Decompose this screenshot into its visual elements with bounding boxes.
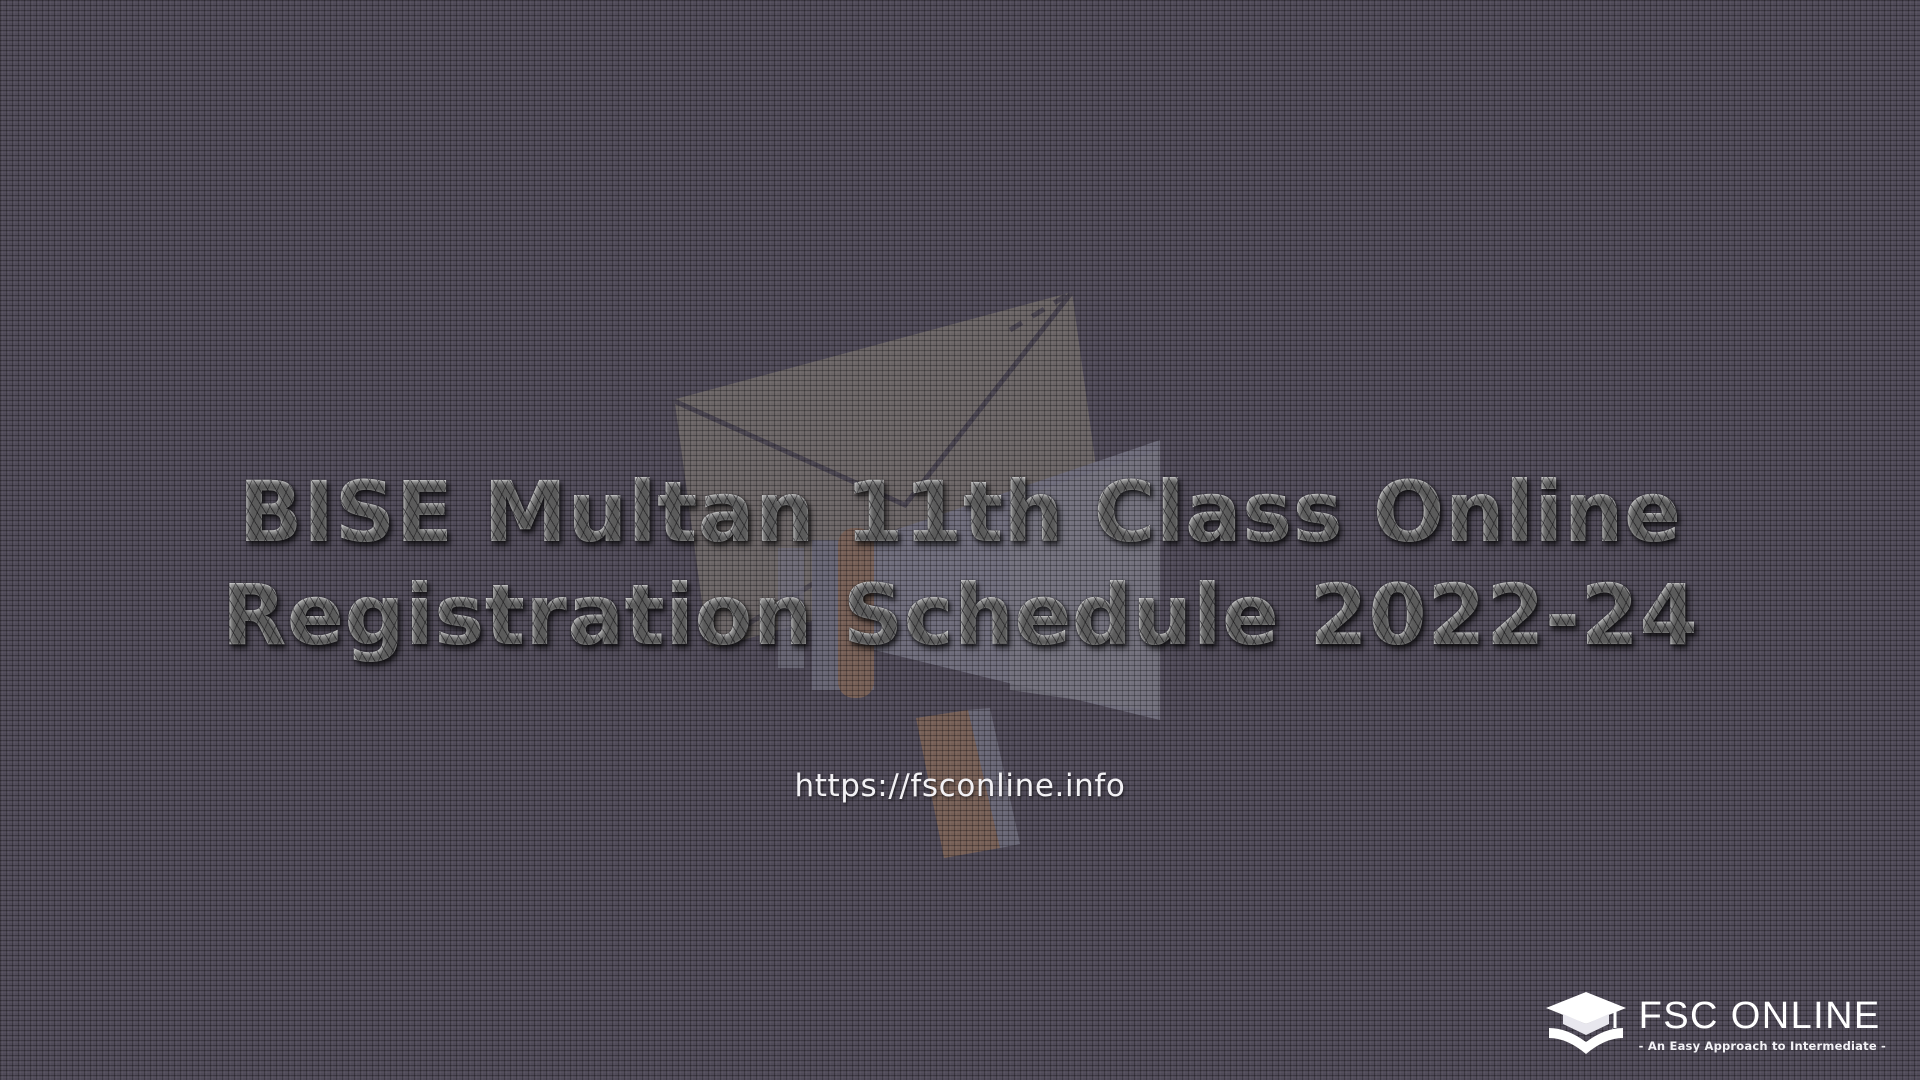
- banner-content: BISE Multan 11th Class Online Registrati…: [0, 0, 1920, 1080]
- graduation-cap-book-icon: [1543, 988, 1629, 1062]
- logo-tagline: - An Easy Approach to Intermediate -: [1639, 1039, 1886, 1053]
- page-title: BISE Multan 11th Class Online Registrati…: [210, 461, 1710, 666]
- site-url[interactable]: https://fsconline.info: [795, 768, 1126, 804]
- logo-name: FSC ONLINE: [1639, 997, 1881, 1037]
- brand-logo[interactable]: FSC ONLINE - An Easy Approach to Interme…: [1543, 988, 1886, 1062]
- banner-canvas: BISE Multan 11th Class Online Registrati…: [0, 0, 1920, 1080]
- title-line-2: Registration Schedule 2022-24: [210, 564, 1710, 666]
- title-line-1: BISE Multan 11th Class Online: [210, 461, 1710, 563]
- logo-text-block: FSC ONLINE - An Easy Approach to Interme…: [1639, 997, 1886, 1054]
